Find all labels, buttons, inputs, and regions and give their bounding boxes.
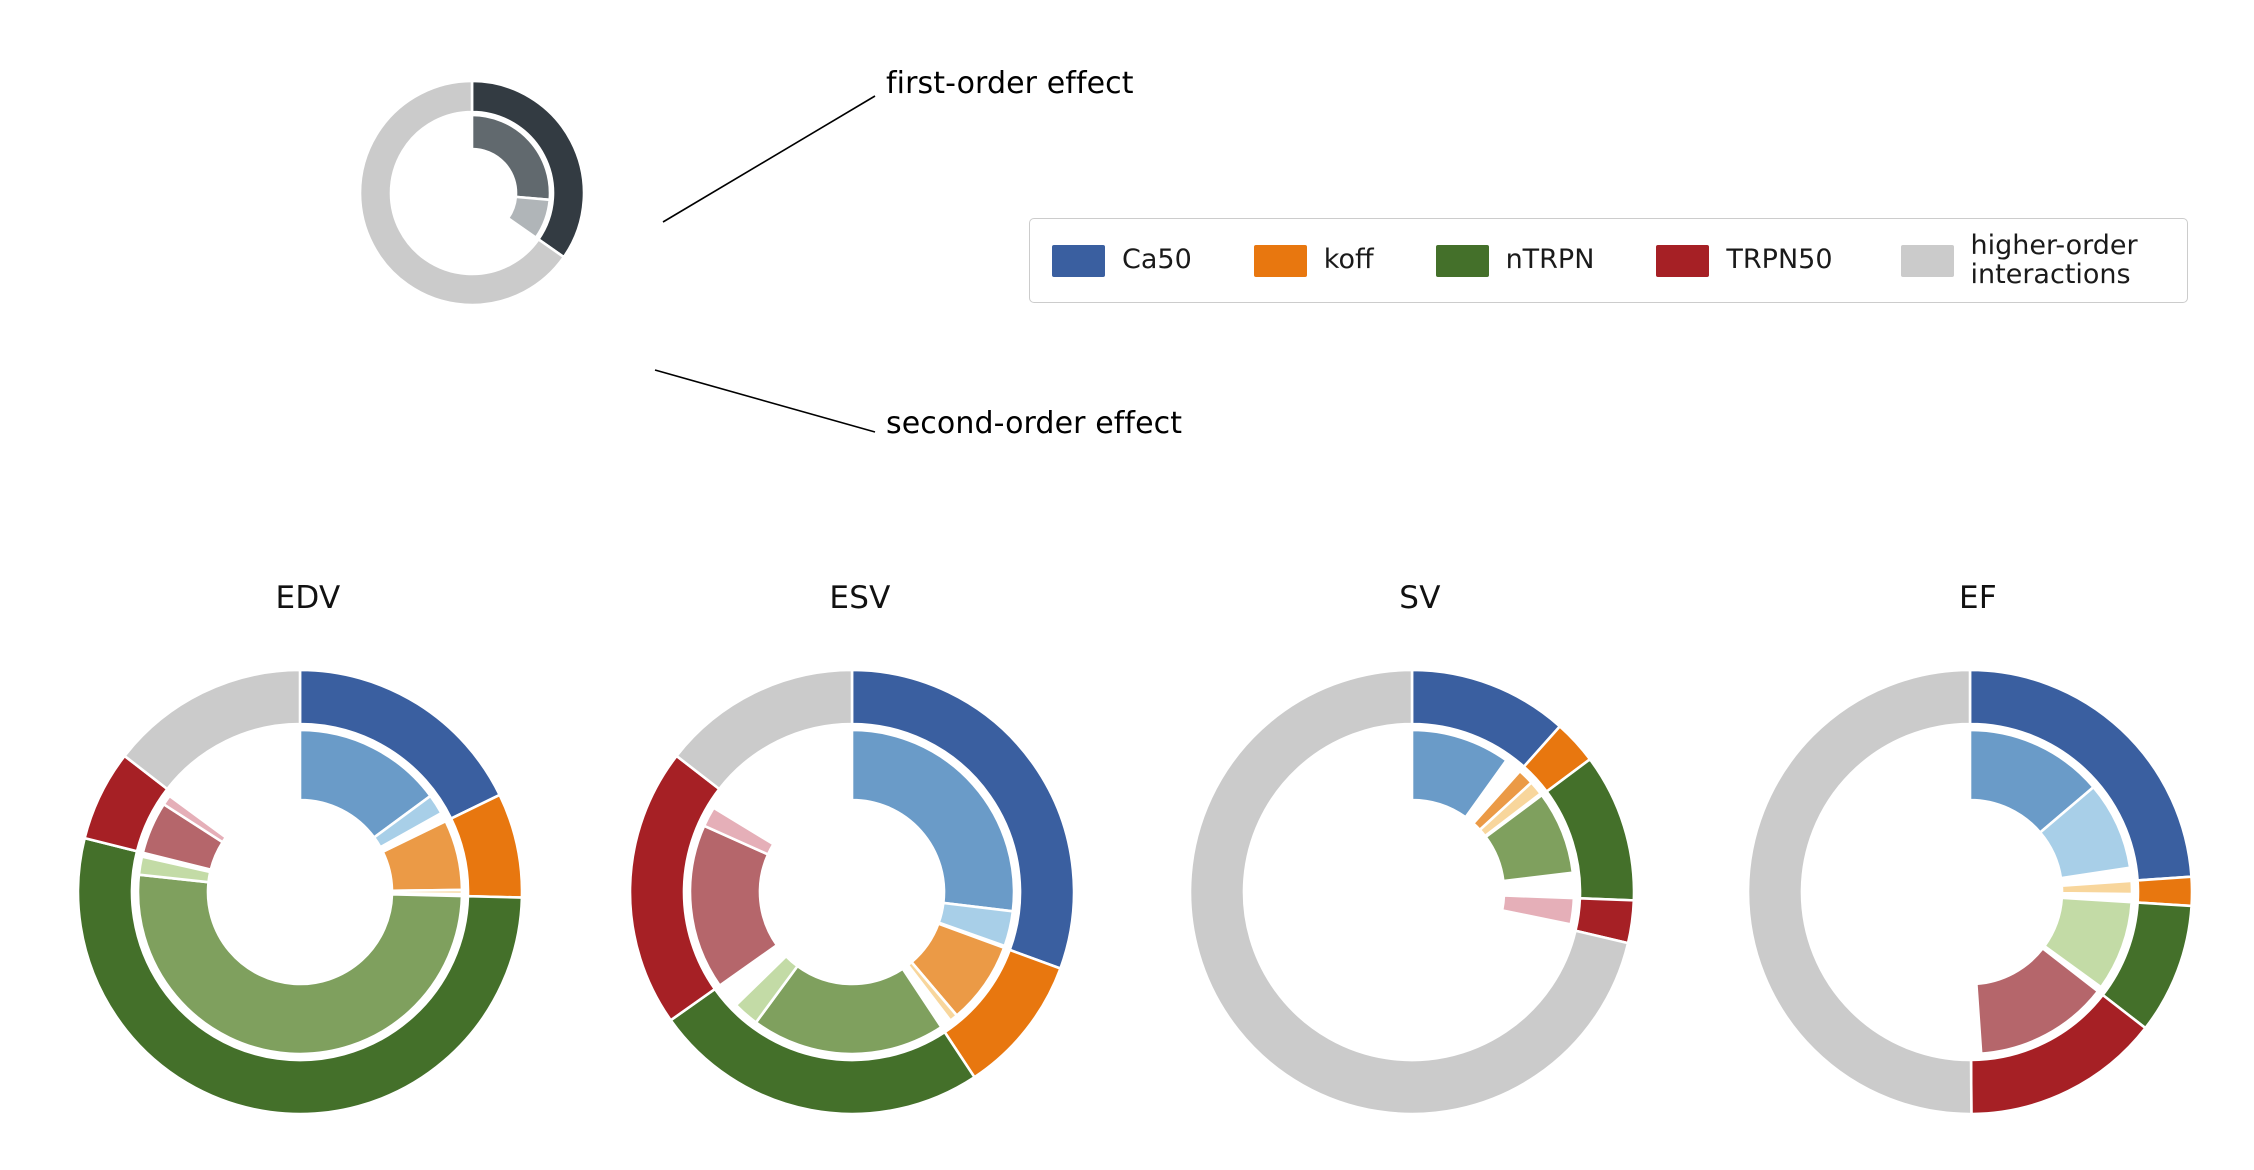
figure-canvas: first-order effect second-order effect C… (0, 0, 2254, 1170)
legend-label: koff (1324, 246, 1374, 275)
legend-swatch-ca50 (1052, 245, 1105, 277)
legend-item-koff[interactable]: koff (1254, 245, 1374, 277)
schematic-donut-chart (332, 28, 752, 358)
donut-panel-sv: SV (1190, 660, 1650, 1140)
legend-item-ntrpn[interactable]: nTRPN (1436, 245, 1595, 277)
legend: Ca50koffnTRPNTRPN50higher-order interact… (1029, 218, 2188, 303)
legend-swatch-ntrpn (1436, 245, 1489, 277)
inner-second-order-wedge-sv-trpn50 (1502, 895, 1574, 924)
panel-title-esv: ESV (630, 580, 1090, 616)
outer-wedge-esv-higher-order-interactions (677, 670, 852, 789)
outer-wedge-ef-higher-order-interactions (1748, 670, 1971, 1114)
donut-panel-edv: EDV (78, 660, 538, 1140)
legend-swatch-higher-order-interactions (1901, 245, 1954, 277)
donut-svg-ef (1748, 660, 2208, 1140)
panel-title-edv: EDV (78, 580, 538, 616)
donut-svg-edv (78, 660, 538, 1140)
panel-title-ef: EF (1748, 580, 2208, 616)
legend-item-ca50[interactable]: Ca50 (1052, 245, 1192, 277)
schematic-donut-svg (332, 28, 752, 358)
panel-title-sv: SV (1190, 580, 1650, 616)
second-order-leader-line (655, 370, 875, 432)
legend-swatch-koff (1254, 245, 1307, 277)
legend-label: higher-order interactions (1971, 232, 2138, 289)
legend-swatch-trpn50 (1656, 245, 1709, 277)
donut-panel-ef: EF (1748, 660, 2208, 1140)
outer-wedge-ef-koff (2138, 877, 2192, 906)
legend-item-higher-order-interactions[interactable]: higher-order interactions (1901, 232, 2138, 289)
donut-svg-sv (1190, 660, 1650, 1140)
legend-item-trpn50[interactable]: TRPN50 (1656, 245, 1832, 277)
donut-panel-esv: ESV (630, 660, 1090, 1140)
annotation-first-order-effect: first-order effect (886, 66, 1134, 101)
donut-svg-esv (630, 660, 1090, 1140)
legend-label: nTRPN (1506, 246, 1595, 275)
legend-label: TRPN50 (1726, 246, 1832, 275)
inner-second-order-wedge-ef-koff (2062, 881, 2132, 894)
annotation-second-order-effect: second-order effect (886, 406, 1182, 441)
outer-wedge-edv-higher-order-interactions (125, 670, 300, 789)
legend-label: Ca50 (1122, 246, 1192, 275)
